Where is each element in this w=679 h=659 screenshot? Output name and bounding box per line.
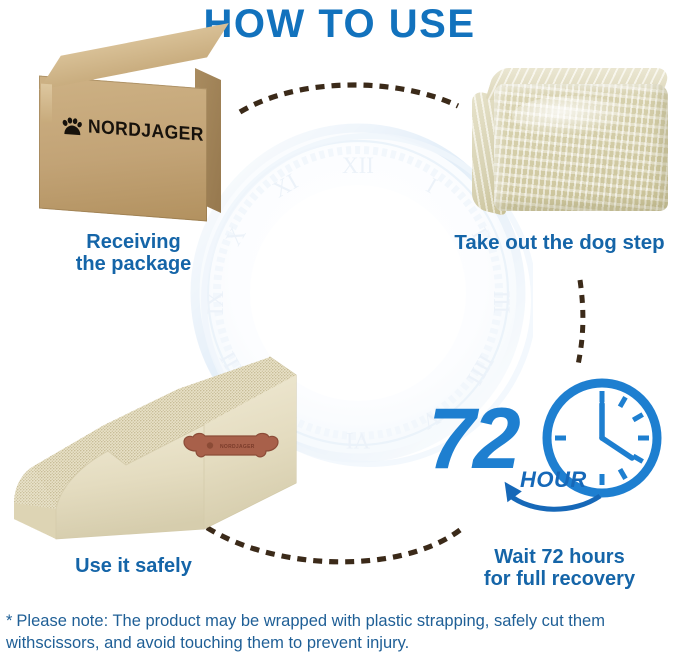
step-2-illustration-bale bbox=[472, 68, 672, 223]
clock-number: 72 bbox=[428, 396, 518, 482]
paw-print-icon bbox=[61, 116, 83, 136]
svg-text:XI: XI bbox=[268, 169, 302, 203]
patch-brand-text: NORDJAGER bbox=[220, 444, 255, 450]
box-front-panel bbox=[39, 76, 207, 222]
step-2-label: Take out the dog step bbox=[440, 232, 679, 255]
how-to-use-infographic: XII I II III IIII V VI VII VIII IX X XI … bbox=[0, 0, 679, 659]
step-3-illustration-clock: 72 HOUR bbox=[424, 368, 674, 543]
box-tape-seam bbox=[41, 84, 52, 123]
svg-text:VI: VI bbox=[346, 428, 370, 453]
bale-plastic-sheen bbox=[512, 96, 632, 136]
svg-text:I: I bbox=[422, 173, 441, 198]
footer-note-star: * bbox=[6, 612, 12, 630]
stairs-left-side bbox=[14, 503, 56, 539]
svg-text:IX: IX bbox=[203, 290, 228, 315]
connector-line-right bbox=[578, 280, 583, 365]
bone-patch: NORDJAGER bbox=[184, 433, 278, 456]
connector-arc-top bbox=[240, 85, 458, 112]
step-1-label: Receiving the package bbox=[26, 231, 241, 276]
svg-text:III: III bbox=[489, 291, 514, 314]
step-3-label: Wait 72 hours for full recovery bbox=[440, 546, 679, 591]
step-1-illustration-box: NORDJAGER bbox=[25, 58, 230, 223]
footer-note-text: Please note: The product may be wrapped … bbox=[6, 612, 605, 652]
step-4-illustration-stairs: NORDJAGER bbox=[8, 333, 308, 553]
footer-note: *Please note: The product may be wrapped… bbox=[6, 611, 674, 655]
clock-unit-label: HOUR bbox=[520, 467, 587, 493]
svg-text:XII: XII bbox=[342, 153, 374, 178]
step-4-label: Use it safely bbox=[26, 555, 241, 577]
page-title: HOW TO USE bbox=[0, 2, 679, 47]
